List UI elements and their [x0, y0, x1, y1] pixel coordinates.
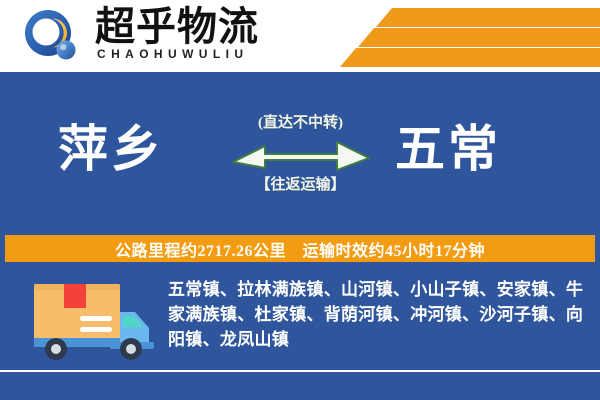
distance-duration-banner: 公路里程约2717.26公里 运输时效约45小时17分钟 — [5, 235, 595, 262]
logistics-route-poster: 超乎物流 CHAOHUWULIU 萍乡 五常 (直达不中转) 【往返运输】 公路… — [0, 0, 600, 400]
delivery-truck-icon — [26, 276, 160, 364]
brand-name-en: CHAOHUWULIU — [97, 47, 248, 61]
roundtrip-note: 【往返运输】 — [228, 176, 373, 194]
route-arrow-block: (直达不中转) 【往返运输】 — [228, 114, 373, 194]
direct-route-note: (直达不中转) — [228, 114, 373, 132]
brand-name-cn: 超乎物流 — [95, 6, 259, 48]
origin-city-name: 萍乡 — [58, 121, 164, 177]
header-bar: 超乎物流 CHAOHUWULIU — [0, 0, 600, 72]
covered-towns-list: 五常镇、拉林满族镇、山河镇、小山子镇、安家镇、牛家满族镇、杜家镇、背荫河镇、冲河… — [168, 277, 588, 352]
bottom-divider — [0, 370, 600, 372]
double-headed-arrow-icon — [228, 136, 373, 172]
distance-duration-text: 公路里程约2717.26公里 运输时效约45小时17分钟 — [115, 237, 485, 261]
destination-city-name: 五常 — [395, 121, 501, 177]
orange-diagonal-stripes-icon — [330, 6, 600, 68]
circular-q-crescent-logo — [22, 8, 82, 66]
